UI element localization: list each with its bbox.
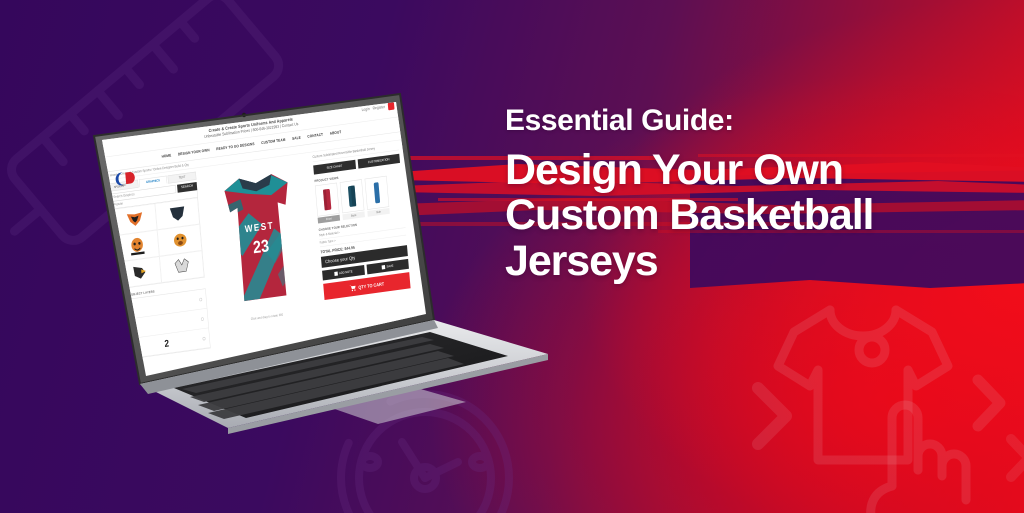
view-thumb-side[interactable]: Side — [365, 176, 390, 217]
chevron-right-icon — [742, 378, 802, 454]
register-link[interactable]: Register — [373, 105, 386, 111]
layer-number-value: 2 — [164, 337, 169, 349]
headline-line-3: Jerseys — [505, 239, 975, 285]
jersey-number: 23 — [252, 237, 270, 258]
headline-title: Design Your Own Custom Basketball Jersey… — [505, 148, 975, 285]
laptop-device: Create & Create Sports Uniforms And Appa… — [78, 88, 578, 428]
nav-item-ready-to-go[interactable]: READY TO GO DESIGNS — [216, 142, 255, 151]
tshirt-icon — [768, 296, 958, 476]
headline-line-2: Custom Basketball — [505, 193, 975, 239]
chevron-right-icon — [965, 372, 1013, 434]
designer-app-screen: Create & Create Sports Uniforms And Appa… — [102, 97, 417, 363]
preview-note: Click and drag to rotate 360 — [251, 313, 284, 321]
pointing-hand-icon — [862, 398, 992, 513]
nav-item-home[interactable]: HOME — [161, 154, 171, 159]
product-sidebar: Custom Sublimated Reversible Basketball … — [312, 144, 413, 332]
size-chart-button[interactable]: SIZE CHART — [313, 160, 356, 175]
chevron-right-icon — [1000, 432, 1024, 484]
nav-item-about[interactable]: ABOUT — [330, 130, 342, 136]
graphic-wolf-mascot[interactable] — [159, 251, 204, 283]
login-link[interactable]: Login — [361, 107, 370, 112]
nav-item-sale[interactable]: SALE — [292, 136, 301, 141]
jersey-preview-panel: WEST 23 Click and drag to rotate 360 — [200, 156, 324, 347]
nav-item-custom-team[interactable]: CUSTOM TEAM — [261, 138, 285, 145]
jersey-preview[interactable]: WEST 23 — [211, 161, 309, 317]
shopping-cart-icon[interactable] — [388, 102, 395, 110]
headline-line-1: Design Your Own — [505, 148, 975, 194]
save-icon — [382, 265, 386, 269]
view-thumb-front[interactable]: Front — [315, 183, 340, 224]
note-icon — [334, 272, 338, 276]
view-thumb-back[interactable]: Back — [340, 179, 365, 220]
promo-banner: Essential Guide: Design Your Own Custom … — [0, 0, 1024, 513]
headline-kicker: Essential Guide: — [505, 104, 975, 138]
headline-block: Essential Guide: Design Your Own Custom … — [505, 104, 975, 284]
cart-icon — [349, 284, 356, 292]
nav-item-design-your-own[interactable]: DESIGN YOUR OWN — [178, 148, 210, 156]
customization-button[interactable]: CUSTOMIZATION — [357, 154, 400, 169]
nav-item-contact[interactable]: CONTACT — [307, 133, 323, 139]
